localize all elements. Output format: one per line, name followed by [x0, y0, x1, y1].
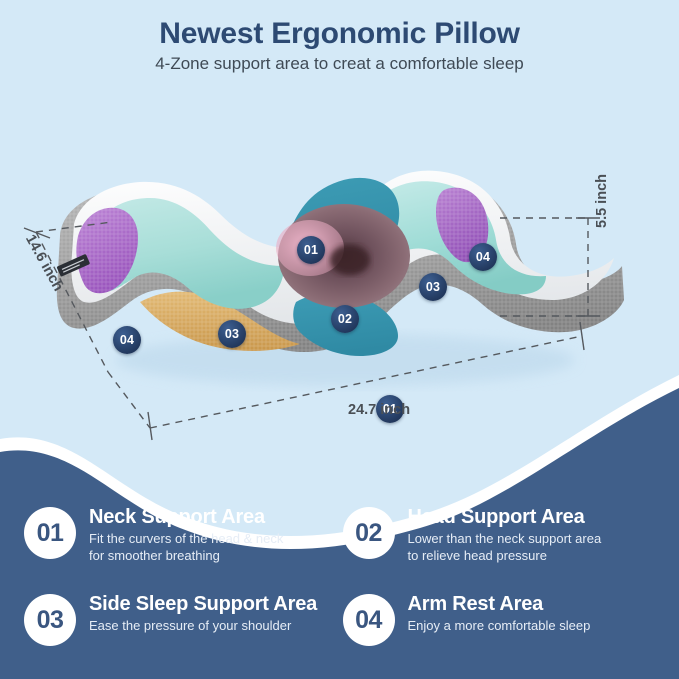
zone-badge-03-side-right: 03 — [419, 273, 447, 301]
zone-badge-01-neck: 01 — [297, 236, 325, 264]
header: Newest Ergonomic Pillow 4-Zone support a… — [0, 16, 679, 75]
dimension-width-label: 24.7 inch — [348, 402, 410, 418]
head-cradle-hollow — [330, 245, 370, 275]
feature-item-01: 01 Neck Support Area Fit the curvers of … — [24, 505, 337, 588]
feature-desc-03: Ease the pressure of your shoulder — [89, 618, 317, 635]
infographic-canvas: Newest Ergonomic Pillow 4-Zone support a… — [0, 0, 679, 679]
zone-badge-04-arm-right: 04 — [469, 243, 497, 271]
feature-number-03: 03 — [24, 594, 76, 646]
feature-title-04: Arm Rest Area — [408, 593, 591, 615]
feature-desc-04: Enjoy a more comfortable sleep — [408, 618, 591, 635]
zone-badge-04-arm-left: 04 — [113, 326, 141, 354]
feature-number-02: 02 — [343, 507, 395, 559]
feature-number-01: 01 — [24, 507, 76, 559]
zone-badge-03-side-left: 03 — [218, 320, 246, 348]
feature-title-02: Head Support Area — [408, 506, 602, 528]
feature-list: 01 Neck Support Area Fit the curvers of … — [0, 505, 679, 675]
product-illustration: 01 02 03 04 01 03 04 — [0, 88, 679, 408]
pillow-graphic — [0, 88, 679, 408]
feature-title-01: Neck Support Area — [89, 506, 283, 528]
dimension-height-label: 5.5 inch — [594, 174, 610, 228]
feature-item-03: 03 Side Sleep Support Area Ease the pres… — [24, 592, 337, 675]
page-title: Newest Ergonomic Pillow — [0, 16, 679, 51]
page-subtitle: 4-Zone support area to creat a comfortab… — [0, 54, 679, 74]
feature-title-03: Side Sleep Support Area — [89, 593, 317, 615]
zone-badge-02-head: 02 — [331, 305, 359, 333]
feature-item-04: 04 Arm Rest Area Enjoy a more comfortabl… — [343, 592, 656, 675]
feature-number-04: 04 — [343, 594, 395, 646]
feature-desc-02: Lower than the neck support areato relie… — [408, 531, 602, 565]
feature-desc-01: Fit the curvers of the head & neckfor sm… — [89, 531, 283, 565]
feature-item-02: 02 Head Support Area Lower than the neck… — [343, 505, 656, 588]
